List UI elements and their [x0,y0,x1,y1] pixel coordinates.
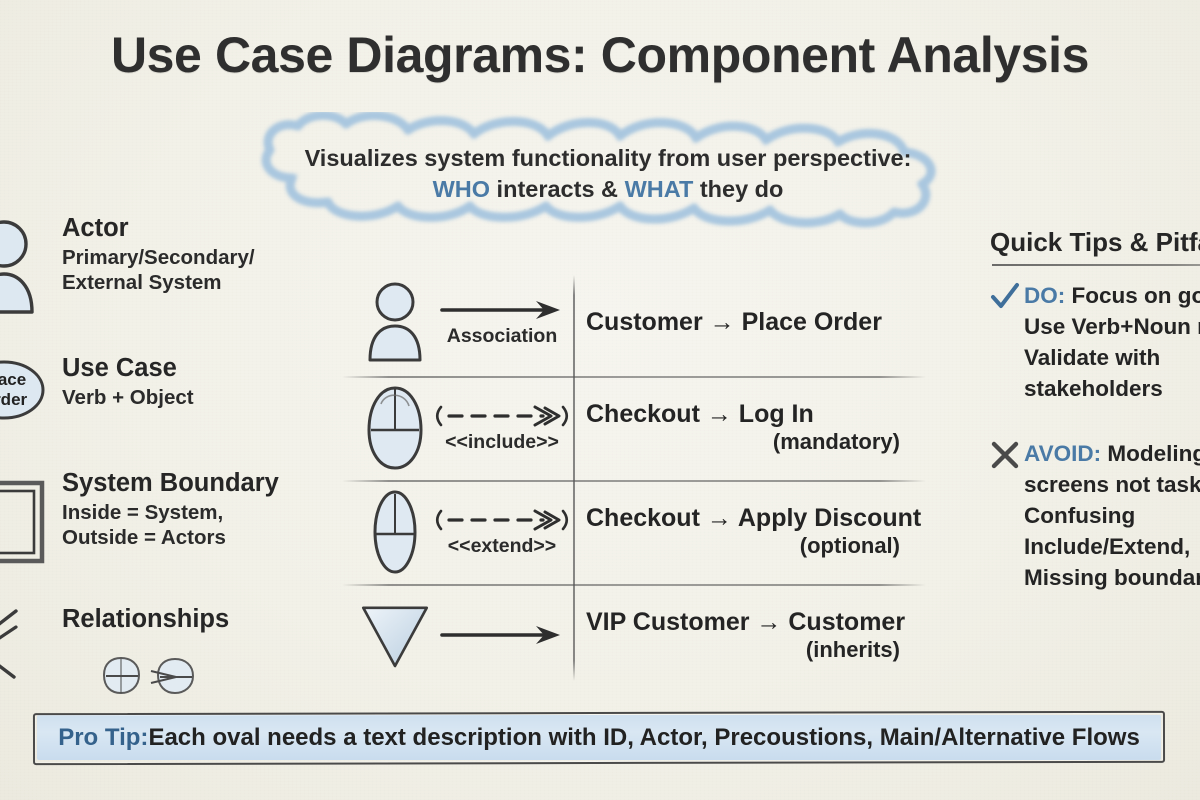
example-note: (optional) [586,533,928,559]
tip-avoid-line-3: Confusing [1024,500,1200,531]
tip-do-line-4: stakeholders [1024,373,1200,404]
table-row: Association Customer → Place Order [340,272,928,375]
legend-title: Actor [62,214,255,242]
example-cell: Checkout → Apply Discount (optional) [586,482,928,582]
legend-actor-text: Actor Primary/Secondary/ External System [62,214,255,295]
relationship-table: Association Customer → Place Order [340,272,928,684]
cloud-line2-mid: interacts & [490,176,625,202]
tip-avoid-line-2: screens not tasks, [1024,469,1200,500]
pro-tip-body: Each oval needs a text description with … [148,724,1139,752]
page-title: Use Case Diagrams: Component Analysis [0,26,1200,84]
table-row: <<include>> Checkout → Log In (mandatory… [340,378,928,481]
legend-item-system-boundary: System Boundary Inside = System, Outside… [0,469,330,579]
pro-tip-banner: Pro Tip: Each oval needs a text descript… [33,712,1165,764]
cloud-line-2: WHO interacts & WHAT they do [433,176,784,204]
relationship-cell: <<include>> [436,378,568,478]
relationship-cell: Association [436,272,568,372]
example-note: (mandatory) [586,429,928,455]
relationship-label: <<include>> [445,431,559,454]
cloud-line-1: Visualizes system functionality from use… [305,145,912,173]
pro-tip-text: Pro Tip: Each oval needs a text descript… [33,712,1165,764]
tip-do-line-1: DO: Focus on goals, [1024,280,1200,311]
relationship-mini-shapes-icon [96,655,206,697]
tip-avoid-keyword: AVOID: [1024,441,1101,466]
legend-sub-line2: Outside = Actors [62,525,279,550]
cross-mark-icon [990,440,1020,470]
dashed-open-arrow-icon [435,403,569,429]
table-row: VIP Customer → Customer (inherits) [340,586,928,689]
legend-item-actor: Actor Primary/Secondary/ External System [0,214,330,324]
check-mark-icon [990,282,1020,312]
relationship-cell: <<extend>> [436,482,568,582]
legend-title: Use Case [62,354,194,382]
tip-avoid-text: AVOID: Modeling UI screens not tasks, Co… [1024,438,1200,593]
tip-do-line1-rest: Focus on goals, [1065,283,1200,308]
legend-title: Relationships [62,605,229,633]
example-cell: VIP Customer → Customer (inherits) [586,586,928,686]
example-note: (inherits) [586,637,928,663]
table-row: <<extend>> Checkout → Apply Discount (op… [340,482,928,585]
pro-tip-keyword: Pro Tip: [58,724,148,752]
tips-column: Quick Tips & Pitfalls DO: Focus on goals… [990,228,1200,257]
actor-stick-figure-icon [0,216,48,321]
legend-sub-line1: Inside = System, [62,500,279,525]
dashed-open-arrow-icon [435,507,569,533]
tip-do-line-3: Validate with [1024,342,1200,373]
tip-avoid-line-5: Missing boundaries [1024,562,1200,593]
summary-cloud: Visualizes system functionality from use… [252,112,964,230]
legend-item-relationships: Relationships [0,599,330,699]
tips-heading: Quick Tips & Pitfalls [990,228,1200,257]
legend-item-use-case: Place Order Use Case Verb + Object [0,354,330,444]
example-cell: Customer → Place Order [586,272,928,372]
cloud-keyword-who: WHO [433,176,490,202]
tip-avoid-line-1: AVOID: Modeling UI [1024,438,1200,469]
slide-canvas: Use Case Diagrams: Component Analysis Vi… [0,0,1200,800]
oval-label-line1: Place [0,370,26,389]
use-case-oval-extend-icon [358,482,432,582]
example-cell: Checkout → Log In (mandatory) [586,378,928,478]
oval-label-line2: Order [0,390,28,409]
legend-sub-line2: External System [62,270,255,295]
use-case-oval-include-icon [358,378,432,478]
legend-title: System Boundary [62,469,279,497]
cloud-keyword-what: WHAT [625,176,694,202]
legend-relationships-text: Relationships [62,605,229,633]
actor-figure-icon [358,272,432,372]
relationship-arrow-icon [0,605,40,685]
legend-sub-line1: Primary/Secondary/ [62,245,255,270]
solid-arrow-icon [438,622,566,648]
example-main: Checkout → Log In [586,400,928,429]
tips-heading-rule [992,264,1200,266]
cloud-text: Visualizes system functionality from use… [252,112,964,230]
system-boundary-rectangle-icon [0,477,50,567]
relationship-label: Association [447,325,558,348]
tip-do-text: DO: Focus on goals, Use Verb+Noun names,… [1024,280,1200,404]
tip-avoid-line1-rest: Modeling UI [1101,441,1200,466]
legend-system-boundary-text: System Boundary Inside = System, Outside… [62,469,279,550]
use-case-oval-icon: Place Order [0,358,48,422]
tip-do-line-2: Use Verb+Noun names, [1024,311,1200,342]
cloud-line2-end: they do [693,176,783,202]
tip-avoid-line-4: Include/Extend, [1024,531,1200,562]
tip-do-keyword: DO: [1024,283,1065,308]
example-main: Customer → Place Order [586,308,928,337]
legend-sub-line1: Verb + Object [62,385,194,410]
relationship-label: <<extend>> [448,535,556,558]
example-main: Checkout → Apply Discount [586,504,928,533]
example-main: VIP Customer → Customer [586,608,928,637]
legend-use-case-text: Use Case Verb + Object [62,354,194,410]
solid-arrow-icon [438,297,566,323]
relationship-cell [436,586,568,686]
generalization-triangle-icon [358,586,432,686]
